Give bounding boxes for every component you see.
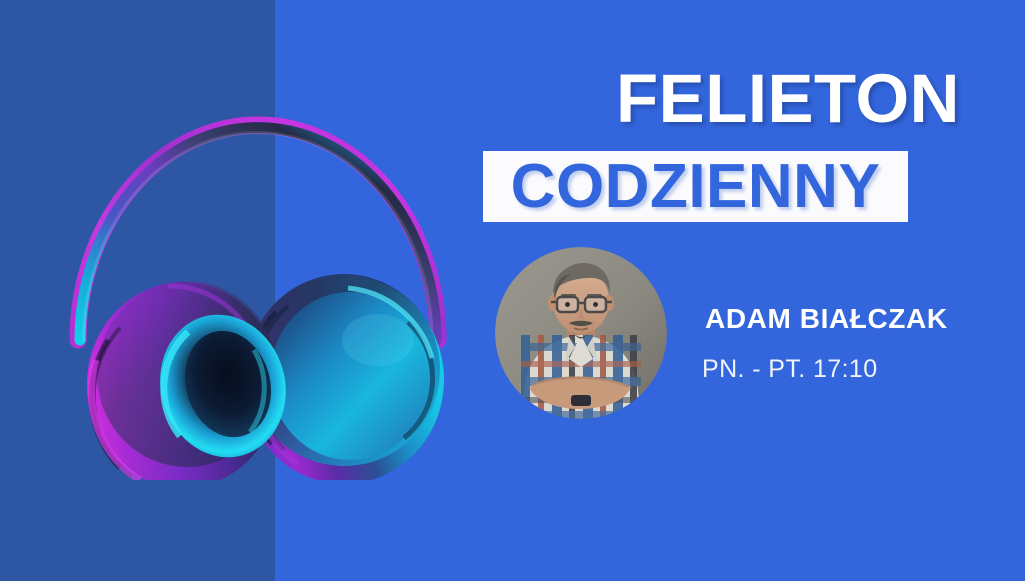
page-title-secondary: CODZIENNY <box>483 151 908 222</box>
page-title-primary: FELIETON <box>598 64 978 133</box>
host-name: ADAM BIAŁCZAK <box>705 303 948 335</box>
host-schedule: PN. - PT. 17:10 <box>702 355 878 384</box>
promo-banner: FELIETON CODZIENNY <box>0 0 1025 581</box>
headphones-3d-illustration <box>48 40 468 480</box>
avatar <box>495 247 667 419</box>
